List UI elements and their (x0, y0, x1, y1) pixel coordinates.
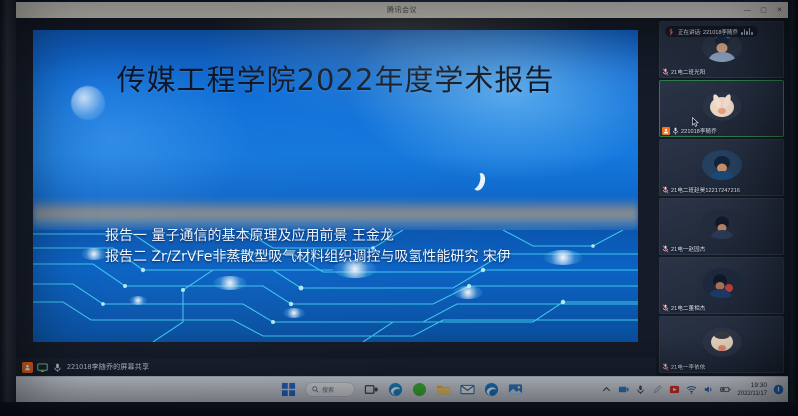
monitor-bezel-bottom (0, 402, 798, 416)
participant-tile[interactable]: 21电一李依依 (659, 316, 784, 373)
participant-nameplate: 21电一赵园杰 (662, 245, 705, 253)
search-placeholder: 搜索 (322, 385, 334, 394)
screen-share-icon (37, 362, 48, 373)
circuit-spark (129, 296, 147, 305)
mail-icon[interactable] (460, 382, 475, 397)
participant-nameplate: 221018李随乔 (662, 127, 717, 135)
taskbar-center-group: 搜索 (281, 382, 523, 397)
person-photo (702, 150, 742, 180)
participant-avatar (702, 150, 742, 180)
photos-icon[interactable] (508, 382, 523, 397)
clock-time: 19:30 (751, 382, 767, 390)
participant-avatar (702, 327, 742, 357)
participant-avatar (702, 91, 742, 121)
speaker-icon (668, 28, 675, 36)
person-photo (702, 91, 742, 121)
monitor-bezel-left (0, 0, 16, 416)
monitor-photo: 腾讯会议 — ▢ ✕ (0, 0, 798, 416)
participant-name: 21电一赵园杰 (671, 245, 705, 253)
slide-title: 传媒工程学院2022年度学术报告 (33, 57, 638, 99)
edge-icon[interactable] (388, 382, 403, 397)
participant-tile[interactable]: 21电二班赵昊12217247216 (659, 139, 784, 196)
participants-sidebar[interactable]: 正在讲话: 221018李随乔 (656, 18, 788, 376)
screen-share-status-text: 221018李随乔的屏幕共享 (67, 362, 149, 372)
audio-wave-icon (741, 28, 753, 35)
participant-nameplate: 21电一李依依 (662, 363, 705, 371)
app-title: 腾讯会议 (387, 5, 417, 15)
participant-name: 221018李随乔 (681, 127, 717, 135)
maximize-icon[interactable]: ▢ (759, 6, 768, 15)
system-tray[interactable]: 19:30 2022/11/17 (601, 382, 784, 398)
slide-report-line-1: 报告一 量子通信的基本原理及应用前景 王金龙 (105, 226, 625, 247)
slide-body-text: 报告一 量子通信的基本原理及应用前景 王金龙 报告二 Zr/ZrVFe非蒸散型吸… (105, 226, 625, 268)
windows-taskbar[interactable]: 搜索 (16, 376, 788, 402)
participant-name: 21电二班光阳 (671, 68, 705, 76)
monitor-bezel-right (788, 0, 798, 416)
window-body: 传媒工程学院2022年度学术报告 报告一 量子通信的基本原理及应用前景 王金龙 … (16, 18, 788, 376)
person-glyph (24, 364, 31, 371)
close-icon[interactable]: ✕ (775, 6, 784, 15)
circuit-spark (453, 286, 483, 299)
clock-date: 2022/11/17 (737, 390, 767, 398)
screen-record-tray-icon[interactable] (669, 384, 680, 395)
volume-icon[interactable] (703, 384, 714, 395)
mic-icon (672, 127, 679, 135)
host-badge-icon (662, 127, 670, 135)
minimize-icon[interactable]: — (743, 6, 752, 15)
participant-name: 21电二班赵昊12217247216 (671, 186, 740, 194)
participant-tile[interactable]: 21电一赵园杰 (659, 198, 784, 255)
task-view-icon[interactable] (364, 382, 379, 397)
active-speaker-banner: 正在讲话: 221018李随乔 (665, 26, 758, 37)
host-badge-icon (22, 362, 33, 373)
mic-muted-icon (662, 68, 669, 76)
person-photo (702, 327, 742, 357)
battery-icon[interactable] (720, 384, 731, 395)
person-photo (702, 209, 742, 239)
circuit-spark (213, 276, 247, 290)
shared-screen-area: 传媒工程学院2022年度学术报告 报告一 量子通信的基本原理及应用前景 王金龙 … (16, 18, 656, 376)
circuit-spark (283, 308, 305, 318)
windows-desktop: 腾讯会议 — ▢ ✕ (16, 0, 788, 402)
pen-tray-icon[interactable] (652, 384, 663, 395)
start-icon[interactable] (281, 382, 296, 397)
participant-name: 21电一李依依 (671, 363, 705, 371)
participant-avatar (702, 209, 742, 239)
mic-muted-icon (662, 304, 669, 312)
participant-tile[interactable]: 21电二董相杰 (659, 257, 784, 314)
window-titlebar: 腾讯会议 — ▢ ✕ (16, 2, 788, 18)
browser-icon[interactable] (412, 382, 427, 397)
participant-name: 21电二董相杰 (671, 304, 705, 312)
notification-icon[interactable] (773, 384, 784, 395)
mic-muted-icon (662, 186, 669, 194)
participant-avatar (702, 268, 742, 298)
microphone-tray-icon[interactable] (635, 384, 646, 395)
slide-glow-upper-right (333, 30, 638, 190)
search-icon (312, 386, 319, 393)
slide-report-line-2: 报告二 Zr/ZrVFe非蒸散型吸气材料组织调控与吸氢性能研究 宋伊 (105, 247, 625, 268)
participant-nameplate: 21电二董相杰 (662, 304, 705, 312)
taskbar-clock[interactable]: 19:30 2022/11/17 (737, 382, 767, 398)
participant-nameplate: 21电二班赵昊12217247216 (662, 186, 740, 194)
mic-muted-icon (662, 363, 669, 371)
edge-chromium-icon[interactable] (484, 382, 499, 397)
person-photo (702, 268, 742, 298)
mic-muted-icon (662, 245, 669, 253)
tencent-meeting-window: 腾讯会议 — ▢ ✕ (16, 2, 788, 376)
person-glyph (663, 128, 669, 134)
chevron-up-icon[interactable] (601, 384, 612, 395)
screen-share-status-bar: 221018李随乔的屏幕共享 (16, 358, 656, 376)
participant-tile[interactable]: 正在讲话: 221018李随乔 (659, 21, 784, 78)
search-input[interactable]: 搜索 (305, 382, 355, 397)
presentation-slide: 传媒工程学院2022年度学术报告 报告一 量子通信的基本原理及应用前景 王金龙 … (33, 30, 638, 342)
window-controls: — ▢ ✕ (743, 2, 784, 18)
mic-icon (52, 362, 63, 373)
participant-tile[interactable]: 221018李随乔 (659, 80, 784, 137)
mouse-cursor-icon (692, 117, 699, 127)
participant-nameplate: 21电二班光阳 (662, 68, 705, 76)
active-speaker-text: 正在讲话: 221018李随乔 (678, 28, 738, 36)
meeting-tray-icon[interactable] (618, 384, 629, 395)
wifi-icon[interactable] (686, 384, 697, 395)
circuit-spark (81, 248, 107, 260)
file-explorer-icon[interactable] (436, 382, 451, 397)
